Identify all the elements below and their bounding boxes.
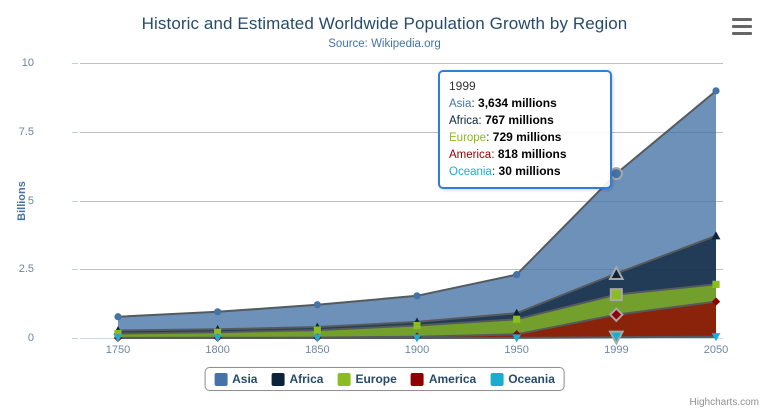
y-tick-mark [72, 201, 78, 202]
tooltip-series-value: 30 millions [499, 164, 561, 178]
legend-item-asia[interactable]: Asia [214, 372, 257, 386]
tooltip-row-africa: Africa: 767 millions [449, 112, 601, 129]
menu-bar-2 [732, 25, 752, 28]
tooltip-header: 1999 [449, 78, 601, 94]
tooltip-series-value: 3,634 millions [478, 96, 557, 110]
marker-asia-2050[interactable] [712, 87, 719, 94]
y-tick-label: 5 [28, 195, 34, 207]
y-tick-label: 10 [22, 57, 34, 69]
y-tick-mark [72, 338, 78, 339]
y-tick-label: 0 [28, 332, 34, 344]
chart-title: Historic and Estimated Worldwide Populat… [0, 14, 769, 34]
legend-item-africa[interactable]: Africa [271, 372, 323, 386]
legend-swatch-europe [337, 373, 350, 386]
series-layer [80, 63, 723, 338]
marker-asia-1750[interactable] [114, 313, 121, 320]
plot-area [80, 63, 723, 338]
tooltip-row-america: America: 818 millions [449, 146, 601, 163]
tooltip-separator: : [486, 130, 493, 144]
y-tick-label: 2.5 [19, 263, 34, 275]
x-tick-label: 1999 [604, 344, 628, 356]
legend-label: Oceania [508, 372, 555, 386]
marker-europe-1950[interactable] [513, 316, 520, 323]
chart-subtitle: Source: Wikipedia.org [0, 38, 769, 50]
marker-asia-1850[interactable] [314, 301, 321, 308]
x-tick-label: 1950 [504, 344, 528, 356]
legend-label: Africa [289, 372, 323, 386]
legend-swatch-oceania [490, 373, 503, 386]
tooltip-series-name: Europe [449, 132, 486, 144]
x-tick-label: 2050 [704, 344, 728, 356]
legend-label: Asia [232, 372, 257, 386]
legend[interactable]: AsiaAfricaEuropeAmericaOceania [204, 367, 565, 391]
marker-asia-1999[interactable] [611, 168, 622, 179]
tooltip-series-name: Africa [449, 115, 478, 127]
tooltip-series-name: Asia [449, 98, 471, 110]
tooltip-separator: : [491, 147, 498, 161]
legend-item-america[interactable]: America [411, 372, 476, 386]
tooltip-row-oceania: Oceania: 30 millions [449, 163, 601, 180]
tooltip-row-asia: Asia: 3,634 millions [449, 95, 601, 112]
x-tick-label: 1850 [305, 344, 329, 356]
legend-item-oceania[interactable]: Oceania [490, 372, 555, 386]
tooltip-series-value: 767 millions [485, 113, 554, 127]
y-tick-mark [72, 269, 78, 270]
tooltip-series-value: 818 millions [498, 147, 567, 161]
marker-asia-1900[interactable] [413, 292, 420, 299]
hamburger-menu-icon[interactable] [730, 15, 754, 37]
legend-item-europe[interactable]: Europe [337, 372, 396, 386]
y-axis-title: Billions [16, 181, 28, 221]
y-tick-mark [72, 63, 78, 64]
tooltip-rows: Asia: 3,634 millionsAfrica: 767 millions… [449, 95, 601, 180]
legend-swatch-africa [271, 373, 284, 386]
tooltip-series-value: 729 millions [493, 130, 562, 144]
x-tick-label: 1900 [405, 344, 429, 356]
legend-swatch-america [411, 373, 424, 386]
marker-europe-2050[interactable] [712, 281, 719, 288]
menu-bar-3 [732, 32, 752, 35]
tooltip-row-europe: Europe: 729 millions [449, 129, 601, 146]
marker-asia-1800[interactable] [214, 308, 221, 315]
y-tick-mark [72, 132, 78, 133]
marker-europe-1999[interactable] [611, 289, 622, 300]
marker-europe-1900[interactable] [413, 322, 420, 329]
legend-label: Europe [355, 372, 396, 386]
y-tick-label: 7.5 [19, 126, 34, 138]
tooltip-series-name: America [449, 149, 491, 161]
credits-link[interactable]: Highcharts.com [690, 397, 759, 408]
marker-europe-1850[interactable] [314, 326, 321, 333]
legend-swatch-asia [214, 373, 227, 386]
marker-asia-1950[interactable] [513, 271, 520, 278]
highcharts-container: Historic and Estimated Worldwide Populat… [0, 0, 769, 416]
menu-bar-1 [732, 18, 752, 21]
x-tick-label: 1800 [205, 344, 229, 356]
tooltip: 1999 Asia: 3,634 millionsAfrica: 767 mil… [438, 70, 612, 189]
tooltip-series-name: Oceania [449, 166, 492, 178]
tooltip-separator: : [492, 164, 499, 178]
legend-label: America [429, 372, 476, 386]
x-tick-label: 1750 [106, 344, 130, 356]
